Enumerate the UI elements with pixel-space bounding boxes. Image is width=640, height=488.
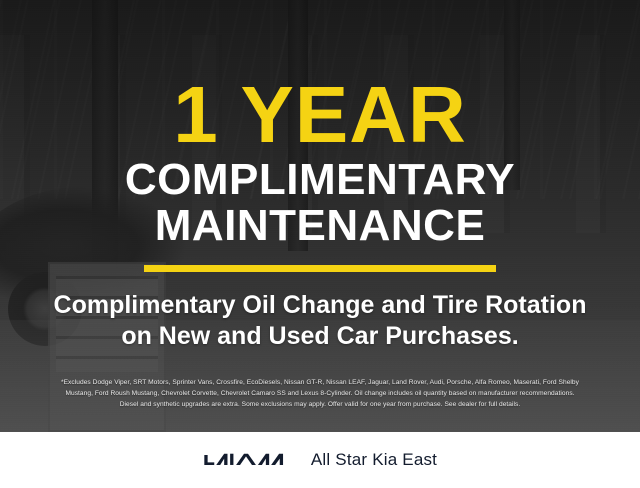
disclaimer-line-1: *Excludes Dodge Viper, SRT Motors, Sprin… <box>12 377 628 388</box>
dealer-name: All Star Kia East <box>311 450 437 470</box>
hero-section: 1 YEAR COMPLIMENTARY MAINTENANCE Complim… <box>0 0 640 432</box>
yellow-divider-rule <box>144 265 496 272</box>
headline-year: 1 YEAR <box>173 78 467 152</box>
offer-description-line-1: Complimentary Oil Change and Tire Rotati… <box>54 290 587 321</box>
hero-copy: 1 YEAR COMPLIMENTARY MAINTENANCE Complim… <box>0 0 640 432</box>
dealer-footer: All Star Kia East <box>0 432 640 488</box>
disclaimer-line-3: Diesel and synthetic upgrades are extra.… <box>12 399 628 410</box>
offer-description-line-2: on New and Used Car Purchases. <box>121 321 518 352</box>
kia-logo-icon <box>203 449 289 471</box>
disclaimer-line-2: Mustang, Ford Roush Mustang, Chevrolet C… <box>12 388 628 399</box>
headline-complimentary: COMPLIMENTARY <box>125 158 515 203</box>
disclaimer-text: *Excludes Dodge Viper, SRT Motors, Sprin… <box>12 377 628 410</box>
promotional-banner: 1 YEAR COMPLIMENTARY MAINTENANCE Complim… <box>0 0 640 488</box>
headline-maintenance: MAINTENANCE <box>155 204 486 249</box>
